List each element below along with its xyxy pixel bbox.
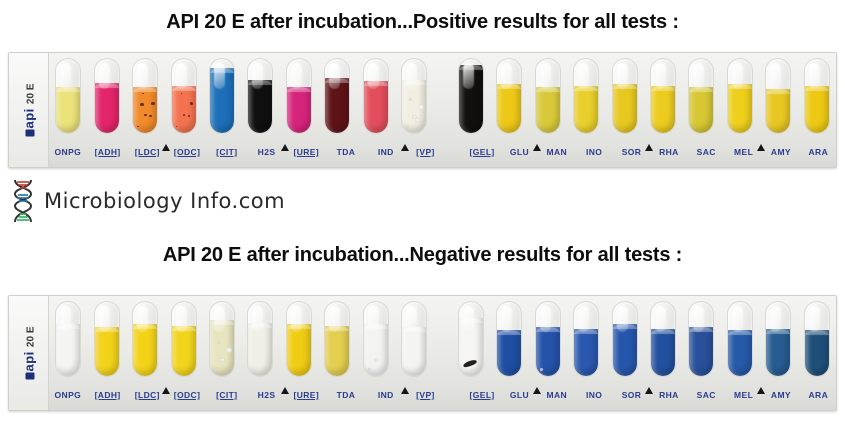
test-label-text: MEL bbox=[734, 390, 753, 400]
cupule-well bbox=[209, 301, 235, 377]
test-label-ino: INO bbox=[575, 390, 612, 400]
test-label-text: AMY bbox=[771, 390, 791, 400]
liquid-speck bbox=[144, 114, 147, 117]
cupule-liquid bbox=[536, 327, 560, 376]
test-label-sac: SAC bbox=[688, 147, 725, 157]
cupule-liquid bbox=[325, 326, 349, 376]
cupule-well bbox=[286, 301, 312, 377]
cupule-liquid bbox=[95, 83, 119, 133]
test-label-amy: AMY bbox=[762, 147, 799, 157]
cupule-well bbox=[401, 58, 427, 134]
test-label-text: SAC bbox=[697, 390, 716, 400]
api-logo-mark bbox=[25, 130, 34, 137]
test-label-amy: AMY bbox=[762, 390, 799, 400]
test-label-text: [GEL] bbox=[470, 147, 495, 157]
test-label-text: ONPG bbox=[55, 147, 82, 157]
cupule-highlight bbox=[693, 63, 704, 89]
test-label-gel: [GEL] bbox=[463, 147, 500, 157]
cupule-liquid bbox=[402, 80, 426, 133]
test-label-sor: SOR bbox=[613, 390, 650, 400]
cupule-liquid bbox=[133, 324, 157, 376]
cupule-liquid bbox=[210, 68, 234, 133]
test-label-sor: SOR bbox=[613, 147, 650, 157]
cupule-liquid bbox=[95, 327, 119, 376]
test-label-man: MAN bbox=[538, 147, 575, 157]
cupule-liquid bbox=[172, 86, 196, 133]
test-label-text: GLU bbox=[510, 390, 529, 400]
test-label-text: [VP] bbox=[416, 147, 435, 157]
cupule-well bbox=[55, 58, 81, 134]
cupule-liquid bbox=[133, 87, 157, 133]
api-brand-size: 20 E bbox=[25, 327, 36, 348]
test-label-mel: MEL bbox=[725, 147, 762, 157]
test-label-text: [ADH] bbox=[95, 390, 121, 400]
cupule-well bbox=[94, 58, 120, 134]
cupule-well bbox=[458, 58, 484, 134]
cupule-liquid bbox=[402, 327, 426, 376]
test-label-h2s: H2S bbox=[247, 147, 287, 157]
cupule-well bbox=[573, 58, 599, 134]
cupule-liquid bbox=[766, 329, 790, 376]
test-label-tda: TDA bbox=[326, 390, 366, 400]
test-label-text: [CIT] bbox=[216, 147, 237, 157]
cupule-highlight bbox=[809, 306, 820, 332]
test-label-text: IND bbox=[378, 390, 394, 400]
test-label-rha: RHA bbox=[650, 390, 687, 400]
cupule-well bbox=[324, 301, 350, 377]
test-label-text: [LDC] bbox=[135, 390, 160, 400]
test-label-text: H2S bbox=[258, 147, 276, 157]
test-label-text: INO bbox=[586, 147, 602, 157]
test-label-text: TDA bbox=[337, 147, 356, 157]
cupule-well bbox=[496, 58, 522, 134]
test-label-tda: TDA bbox=[326, 147, 366, 157]
liquid-bubble bbox=[409, 98, 412, 101]
test-label-text: [GEL] bbox=[470, 390, 495, 400]
test-label-ldc: [LDC] bbox=[127, 390, 167, 400]
cupule-liquid bbox=[364, 81, 388, 133]
cupule-highlight bbox=[540, 63, 551, 89]
cupule-well bbox=[688, 58, 714, 134]
cupule-well bbox=[650, 58, 676, 134]
liquid-bubble bbox=[406, 125, 409, 128]
cupule-liquid bbox=[56, 87, 80, 133]
labels-right-half: [GEL]GLUMANINOSORRHASACMELAMYARA bbox=[463, 147, 837, 157]
cupule-well bbox=[247, 58, 273, 134]
test-label-rha: RHA bbox=[650, 147, 687, 157]
test-label-onpg: ONPG bbox=[48, 390, 88, 400]
test-label-vp: [VP] bbox=[406, 147, 446, 157]
test-label-text: SOR bbox=[622, 147, 642, 157]
cupule-well bbox=[765, 58, 791, 134]
cupule-well bbox=[94, 301, 120, 377]
cupule-well bbox=[804, 301, 830, 377]
test-label-text: RHA bbox=[659, 147, 679, 157]
test-label-text: [LDC] bbox=[135, 147, 160, 157]
cupule-liquid bbox=[459, 318, 483, 376]
test-label-gel: [GEL] bbox=[463, 390, 500, 400]
test-label-glu: GLU bbox=[501, 390, 538, 400]
cupule-liquid bbox=[728, 84, 752, 133]
liquid-speck bbox=[188, 115, 191, 118]
cupule-well bbox=[209, 58, 235, 134]
cupule-liquid bbox=[766, 89, 790, 133]
test-label-text: H2S bbox=[258, 390, 276, 400]
test-label-odc: [ODC] bbox=[167, 390, 207, 400]
labels-left-half: ONPG[ADH][LDC][ODC][CIT]H2S[URE]TDAIND[V… bbox=[48, 390, 445, 400]
test-label-text: [ADH] bbox=[95, 147, 121, 157]
cupule-well bbox=[132, 301, 158, 377]
liquid-speck bbox=[181, 93, 183, 95]
cupule-well bbox=[132, 58, 158, 134]
cupule-well bbox=[171, 301, 197, 377]
test-label-ure: [URE] bbox=[286, 147, 326, 157]
liquid-speck bbox=[190, 102, 194, 106]
test-label-odc: [ODC] bbox=[167, 147, 207, 157]
test-label-h2s: H2S bbox=[247, 390, 287, 400]
cupule-well bbox=[286, 58, 312, 134]
cupule-well bbox=[55, 301, 81, 377]
api-logo-mark bbox=[25, 373, 34, 380]
test-label-onpg: ONPG bbox=[48, 147, 88, 157]
test-label-text: MEL bbox=[734, 147, 753, 157]
test-label-text: [CIT] bbox=[216, 390, 237, 400]
test-label-man: MAN bbox=[538, 390, 575, 400]
test-label-ure: [URE] bbox=[286, 390, 326, 400]
test-label-adh: [ADH] bbox=[88, 390, 128, 400]
test-label-text: [ODC] bbox=[174, 147, 201, 157]
cupule-liquid bbox=[805, 86, 829, 133]
cupule-liquid bbox=[497, 330, 521, 376]
liquid-speck bbox=[142, 93, 144, 95]
cupule-highlight bbox=[501, 306, 512, 332]
cupule-liquid bbox=[613, 84, 637, 133]
cupule-liquid bbox=[805, 330, 829, 376]
liquid-speck bbox=[183, 114, 186, 117]
cupule-well bbox=[727, 301, 753, 377]
test-label-text: ONPG bbox=[55, 390, 82, 400]
cupule-liquid bbox=[536, 87, 560, 133]
test-labels-negative: ONPG[ADH][LDC][ODC][CIT]H2S[URE]TDAIND[V… bbox=[8, 386, 837, 404]
cupule-liquid bbox=[287, 324, 311, 376]
cupule-liquid bbox=[728, 330, 752, 376]
liquid-speck bbox=[176, 126, 178, 128]
cupule-liquid bbox=[287, 87, 311, 133]
cupule-well bbox=[612, 58, 638, 134]
test-label-mel: MEL bbox=[725, 390, 762, 400]
api-brand-name: api bbox=[21, 351, 36, 371]
cupule-liquid bbox=[210, 320, 234, 376]
liquid-speck bbox=[149, 115, 152, 118]
cupule-liquid bbox=[459, 65, 483, 133]
api-brand-tab-text: api 20 E bbox=[21, 84, 36, 137]
cupule-highlight bbox=[732, 306, 743, 332]
cupule-highlight bbox=[60, 63, 71, 89]
test-label-sac: SAC bbox=[688, 390, 725, 400]
test-label-text: [VP] bbox=[416, 390, 435, 400]
cupule-well bbox=[363, 58, 389, 134]
liquid-bubble bbox=[540, 368, 543, 371]
cupule-liquid bbox=[364, 324, 388, 376]
test-label-text: MAN bbox=[547, 390, 568, 400]
cupule-well bbox=[171, 58, 197, 134]
test-label-text: INO bbox=[586, 390, 602, 400]
cupule-liquid bbox=[651, 86, 675, 133]
cupule-liquid bbox=[56, 324, 80, 376]
test-labels-positive: ONPG[ADH][LDC][ODC][CIT]H2S[URE]TDAIND[V… bbox=[8, 143, 837, 161]
cupule-well bbox=[573, 301, 599, 377]
liquid-bubble bbox=[415, 118, 420, 123]
cupule-well bbox=[363, 301, 389, 377]
test-label-adh: [ADH] bbox=[88, 147, 128, 157]
liquid-speck bbox=[140, 103, 144, 107]
liquid-bubble bbox=[220, 358, 225, 363]
cupule-highlight bbox=[770, 63, 781, 89]
test-label-ind: IND bbox=[366, 147, 406, 157]
test-label-text: IND bbox=[378, 147, 394, 157]
cupule-liquid bbox=[248, 323, 272, 376]
cupule-well bbox=[496, 301, 522, 377]
cupule-liquid bbox=[689, 327, 713, 376]
cupule-liquid bbox=[497, 84, 521, 133]
test-label-text: SOR bbox=[622, 390, 642, 400]
test-label-text: SAC bbox=[697, 147, 716, 157]
test-label-ara: ARA bbox=[800, 390, 837, 400]
cupule-well bbox=[535, 58, 561, 134]
cupule-liquid bbox=[172, 326, 196, 376]
test-label-text: GLU bbox=[510, 147, 529, 157]
site-logo-text: Microbiology Info.com bbox=[44, 189, 285, 213]
test-label-text: ARA bbox=[809, 147, 829, 157]
test-label-glu: GLU bbox=[501, 147, 538, 157]
test-label-text: ARA bbox=[809, 390, 829, 400]
site-logo[interactable]: Microbiology Info.com bbox=[6, 178, 285, 224]
liquid-bubble bbox=[368, 368, 371, 371]
test-label-cit: [CIT] bbox=[207, 147, 247, 157]
labels-left-half: ONPG[ADH][LDC][ODC][CIT]H2S[URE]TDAIND[V… bbox=[48, 147, 445, 157]
cupule-well bbox=[612, 301, 638, 377]
page-title-positive: API 20 E after incubation...Positive res… bbox=[0, 12, 845, 32]
dna-helix-icon bbox=[6, 178, 40, 224]
test-label-ind: IND bbox=[366, 390, 406, 400]
api-brand-name: api bbox=[21, 108, 36, 128]
liquid-bubble bbox=[214, 368, 217, 371]
cupule-well bbox=[324, 58, 350, 134]
cupule-well bbox=[401, 301, 427, 377]
cupule-highlight bbox=[137, 63, 148, 89]
cupule-liquid bbox=[574, 329, 598, 376]
cupule-well bbox=[804, 58, 830, 134]
liquid-bubble bbox=[374, 358, 379, 363]
api-brand-tab-text: api 20 E bbox=[21, 327, 36, 380]
test-label-text: TDA bbox=[337, 390, 356, 400]
liquid-bubble bbox=[418, 104, 424, 110]
test-label-ldc: [LDC] bbox=[127, 147, 167, 157]
cupule-highlight bbox=[291, 63, 302, 89]
test-label-text: [ODC] bbox=[174, 390, 201, 400]
cupule-liquid bbox=[574, 86, 598, 133]
cupule-well bbox=[458, 301, 484, 377]
cupule-liquid bbox=[651, 329, 675, 376]
liquid-bubble bbox=[226, 347, 232, 353]
cupule-well bbox=[247, 301, 273, 377]
cupule-liquid bbox=[689, 87, 713, 133]
test-label-text: [URE] bbox=[293, 147, 319, 157]
test-label-text: AMY bbox=[771, 147, 791, 157]
api-brand-size: 20 E bbox=[25, 84, 36, 105]
test-label-cit: [CIT] bbox=[207, 390, 247, 400]
cupule-well bbox=[765, 301, 791, 377]
test-label-text: [URE] bbox=[293, 390, 319, 400]
liquid-speck bbox=[137, 126, 139, 128]
test-label-ara: ARA bbox=[800, 147, 837, 157]
liquid-speck bbox=[151, 102, 155, 106]
test-label-ino: INO bbox=[575, 147, 612, 157]
cupule-well bbox=[688, 301, 714, 377]
cupule-well bbox=[650, 301, 676, 377]
cupule-liquid bbox=[248, 80, 272, 133]
cupule-liquid bbox=[325, 78, 349, 133]
cupule-well bbox=[727, 58, 753, 134]
labels-right-half: [GEL]GLUMANINOSORRHASACMELAMYARA bbox=[463, 390, 837, 400]
cupule-liquid bbox=[613, 324, 637, 376]
test-label-vp: [VP] bbox=[406, 390, 446, 400]
test-label-text: RHA bbox=[659, 390, 679, 400]
cupule-well bbox=[535, 301, 561, 377]
test-label-text: MAN bbox=[547, 147, 568, 157]
liquid-bubble bbox=[217, 341, 220, 344]
page-title-negative: API 20 E after incubation...Negative res… bbox=[0, 245, 845, 265]
